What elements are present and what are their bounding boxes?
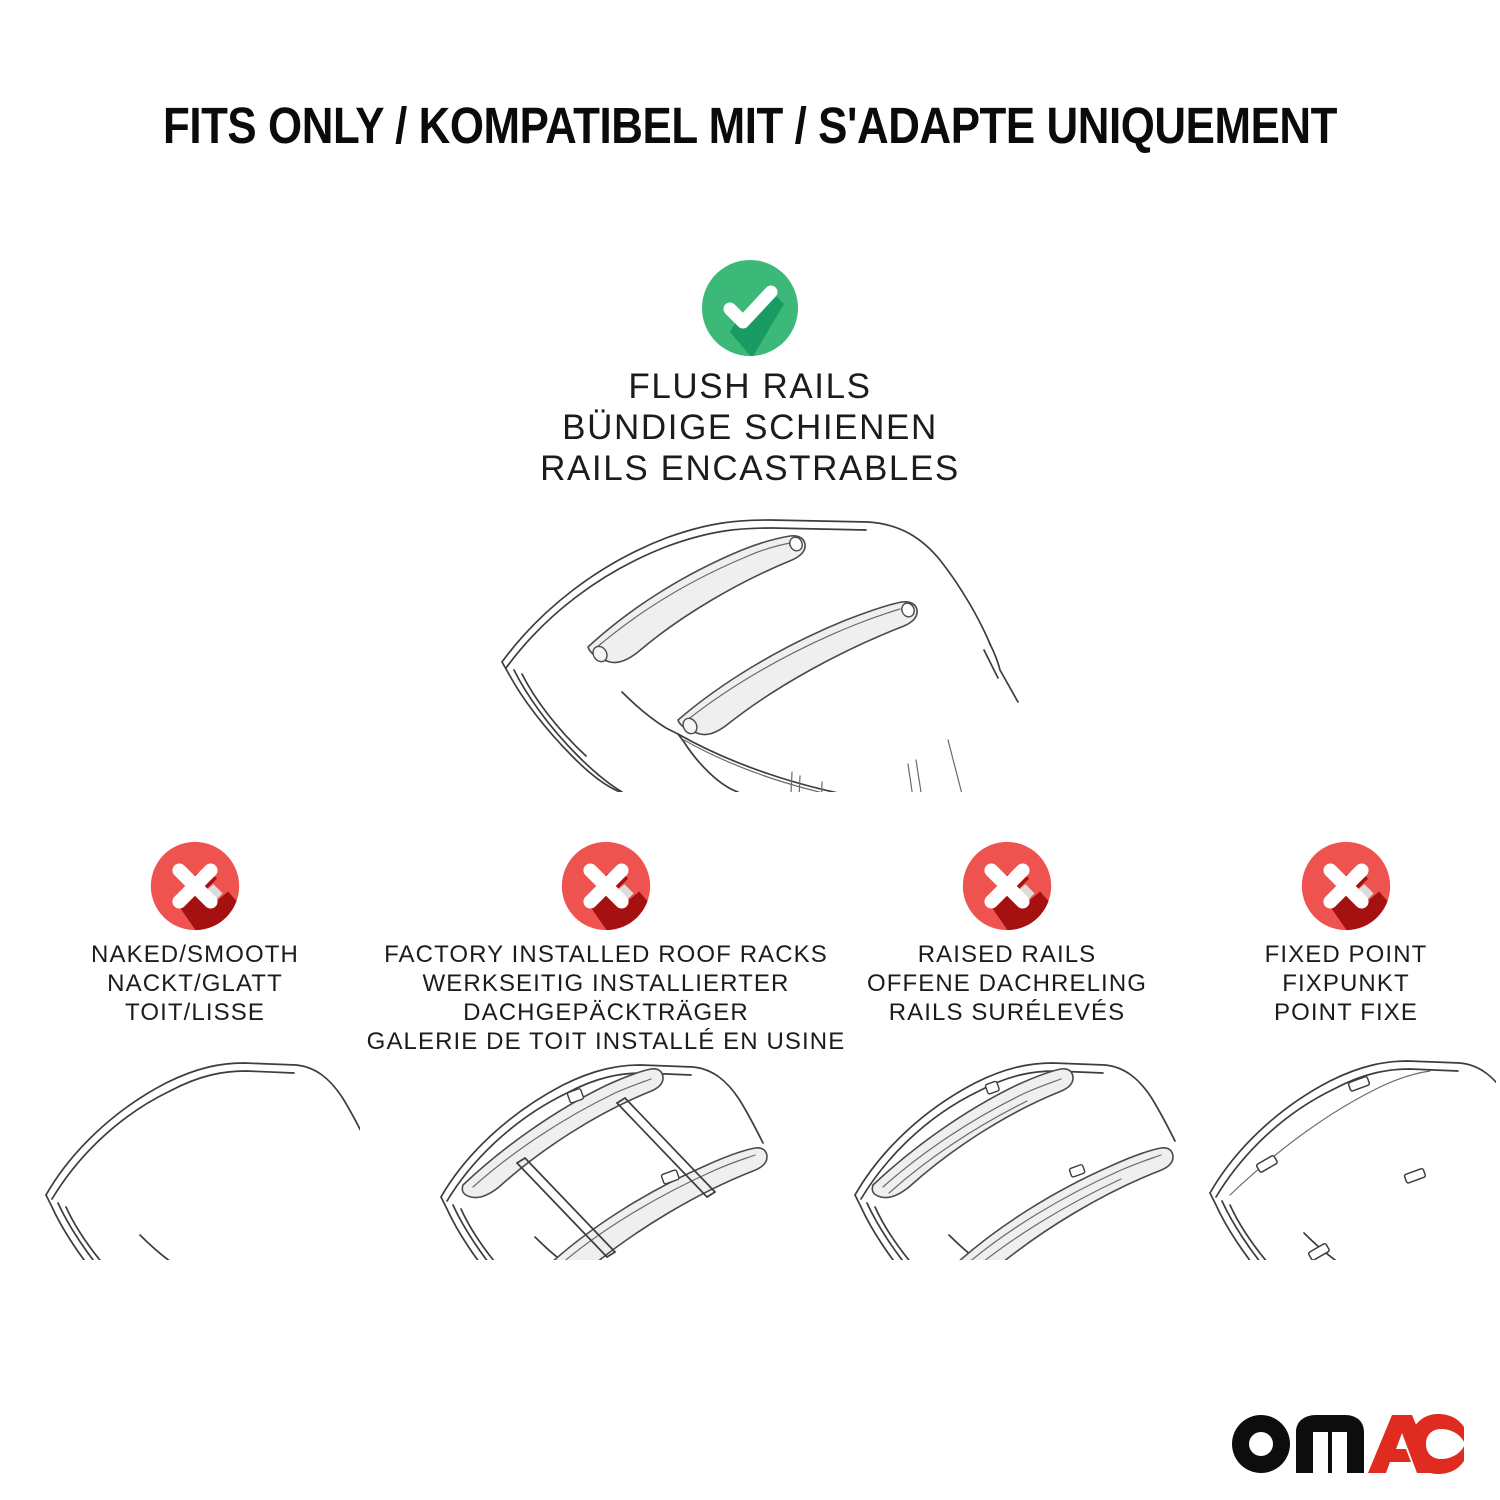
incompatible-label-en: NAKED/SMOOTH: [91, 940, 299, 969]
compatible-labels: FLUSH RAILS BÜNDIGE SCHIENEN RAILS ENCAS…: [0, 366, 1500, 489]
car-roof-fixed-point-illustration: [1192, 1045, 1500, 1260]
incompatible-labels: FIXED POINT FIXPUNKT POINT FIXE: [1265, 940, 1428, 1027]
incompatible-label-en: FACTORY INSTALLED ROOF RACKS: [367, 940, 846, 969]
x-circle-icon: [149, 840, 241, 932]
page-title: FITS ONLY / KOMPATIBEL MIT / S'ADAPTE UN…: [105, 98, 1395, 154]
compatible-label-de: BÜNDIGE SCHIENEN: [0, 407, 1500, 448]
check-circle-icon: [700, 258, 800, 358]
incompatible-label-en: FIXED POINT: [1265, 940, 1428, 969]
x-circle-icon: [961, 840, 1053, 932]
page-header: FITS ONLY / KOMPATIBEL MIT / S'ADAPTE UN…: [0, 98, 1500, 154]
incompatible-label-de: FIXPUNKT: [1265, 969, 1428, 998]
incompatible-label-de: OFFENE DACHRELING: [867, 969, 1147, 998]
x-circle-icon: [560, 840, 652, 932]
incompatible-item-raised-rails: RAISED RAILS OFFENE DACHRELING RAILS SUR…: [822, 840, 1192, 1027]
compatible-section: FLUSH RAILS BÜNDIGE SCHIENEN RAILS ENCAS…: [0, 258, 1500, 489]
incompatible-label-fr: RAILS SURÉLEVÉS: [867, 998, 1147, 1027]
incompatible-label-fr: POINT FIXE: [1265, 998, 1428, 1027]
omac-logo: [1228, 1410, 1468, 1474]
incompatible-illustrations-row: [0, 1045, 1500, 1260]
incompatible-label-en: RAISED RAILS: [867, 940, 1147, 969]
car-roof-raised-rails-illustration: [822, 1045, 1192, 1260]
car-roof-factory-roof-racks-illustration: [390, 1045, 822, 1260]
incompatible-labels: RAISED RAILS OFFENE DACHRELING RAILS SUR…: [867, 940, 1147, 1027]
incompatible-item-fixed-point: FIXED POINT FIXPUNKT POINT FIXE: [1192, 840, 1500, 1027]
incompatible-label-de: NACKT/GLATT: [91, 969, 299, 998]
compatible-label-en: FLUSH RAILS: [0, 366, 1500, 407]
incompatible-label-de-1: WERKSEITIG INSTALLIERTER: [367, 969, 846, 998]
car-roof-naked-smooth-illustration: [0, 1045, 390, 1260]
incompatible-label-de-2: DACHGEPÄCKTRÄGER: [367, 998, 846, 1027]
incompatible-section: NAKED/SMOOTH NACKT/GLATT TOIT/LISSE FACT…: [0, 840, 1500, 1056]
incompatible-item-factory-roof-racks: FACTORY INSTALLED ROOF RACKS WERKSEITIG …: [390, 840, 822, 1056]
compatible-label-fr: RAILS ENCASTRABLES: [0, 448, 1500, 489]
x-circle-icon: [1300, 840, 1392, 932]
incompatible-labels: NAKED/SMOOTH NACKT/GLATT TOIT/LISSE: [91, 940, 299, 1027]
incompatible-label-fr: TOIT/LISSE: [91, 998, 299, 1027]
car-roof-flush-rails-illustration: [0, 502, 1500, 797]
incompatible-labels: FACTORY INSTALLED ROOF RACKS WERKSEITIG …: [367, 940, 846, 1056]
incompatible-item-naked-smooth: NAKED/SMOOTH NACKT/GLATT TOIT/LISSE: [0, 840, 390, 1027]
